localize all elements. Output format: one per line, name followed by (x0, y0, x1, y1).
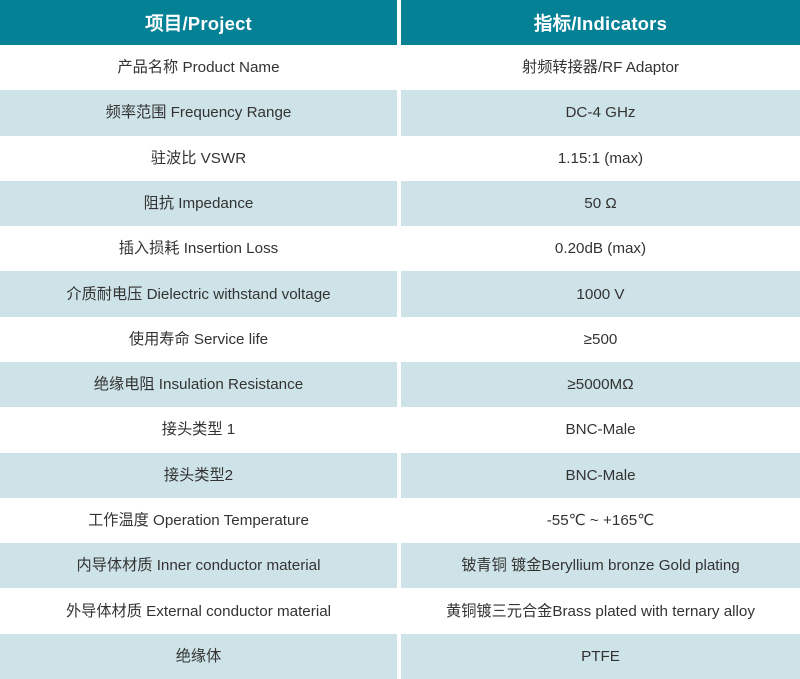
cell-project: 使用寿命 Service life (0, 317, 397, 362)
cell-project: 驻波比 VSWR (0, 136, 397, 181)
cell-indicator: PTFE (401, 634, 800, 679)
cell-indicator: 铍青铜 镀金Beryllium bronze Gold plating (401, 543, 800, 588)
cell-indicator: 1000 V (401, 271, 800, 316)
cell-indicator: -55℃ ~ +165℃ (401, 498, 800, 543)
cell-project: 插入损耗 Insertion Loss (0, 226, 397, 271)
cell-indicator: 黄铜镀三元合金Brass plated with ternary alloy (401, 588, 800, 633)
cell-project: 绝缘电阻 Insulation Resistance (0, 362, 397, 407)
column-header-indicators: 指标/Indicators (401, 0, 800, 45)
cell-indicator: 50 Ω (401, 181, 800, 226)
cell-project: 产品名称 Product Name (0, 45, 397, 90)
table-row: 绝缘电阻 Insulation Resistance≥5000MΩ (0, 362, 800, 407)
cell-indicator: ≥5000MΩ (401, 362, 800, 407)
cell-indicator: 射频转接器/RF Adaptor (401, 45, 800, 90)
table-row: 工作温度 Operation Temperature-55℃ ~ +165℃ (0, 498, 800, 543)
cell-project: 工作温度 Operation Temperature (0, 498, 397, 543)
cell-project: 外导体材质 External conductor material (0, 588, 397, 633)
table-row: 产品名称 Product Name射频转接器/RF Adaptor (0, 45, 800, 90)
table-row: 接头类型2BNC-Male (0, 453, 800, 498)
table-header-row: 项目/Project 指标/Indicators (0, 0, 800, 45)
table-row: 接头类型 1BNC-Male (0, 407, 800, 452)
cell-indicator: 1.15:1 (max) (401, 136, 800, 181)
cell-project: 介质耐电压 Dielectric withstand voltage (0, 271, 397, 316)
cell-project: 阻抗 Impedance (0, 181, 397, 226)
specification-table: 项目/Project 指标/Indicators 产品名称 Product Na… (0, 0, 800, 679)
cell-project: 接头类型2 (0, 453, 397, 498)
column-header-project: 项目/Project (0, 0, 397, 45)
cell-indicator: BNC-Male (401, 407, 800, 452)
table-body: 产品名称 Product Name射频转接器/RF Adaptor频率范围 Fr… (0, 45, 800, 679)
cell-project: 频率范围 Frequency Range (0, 90, 397, 135)
table-row: 内导体材质 Inner conductor material铍青铜 镀金Bery… (0, 543, 800, 588)
cell-indicator: DC-4 GHz (401, 90, 800, 135)
table-row: 绝缘体PTFE (0, 634, 800, 679)
table-row: 阻抗 Impedance50 Ω (0, 181, 800, 226)
table-row: 频率范围 Frequency RangeDC-4 GHz (0, 90, 800, 135)
table-row: 驻波比 VSWR1.15:1 (max) (0, 136, 800, 181)
table-row: 外导体材质 External conductor material黄铜镀三元合金… (0, 588, 800, 633)
cell-project: 内导体材质 Inner conductor material (0, 543, 397, 588)
cell-indicator: ≥500 (401, 317, 800, 362)
table-row: 使用寿命 Service life≥500 (0, 317, 800, 362)
cell-project: 接头类型 1 (0, 407, 397, 452)
cell-project: 绝缘体 (0, 634, 397, 679)
cell-indicator: BNC-Male (401, 453, 800, 498)
table-row: 介质耐电压 Dielectric withstand voltage1000 V (0, 271, 800, 316)
cell-indicator: 0.20dB (max) (401, 226, 800, 271)
table-row: 插入损耗 Insertion Loss0.20dB (max) (0, 226, 800, 271)
